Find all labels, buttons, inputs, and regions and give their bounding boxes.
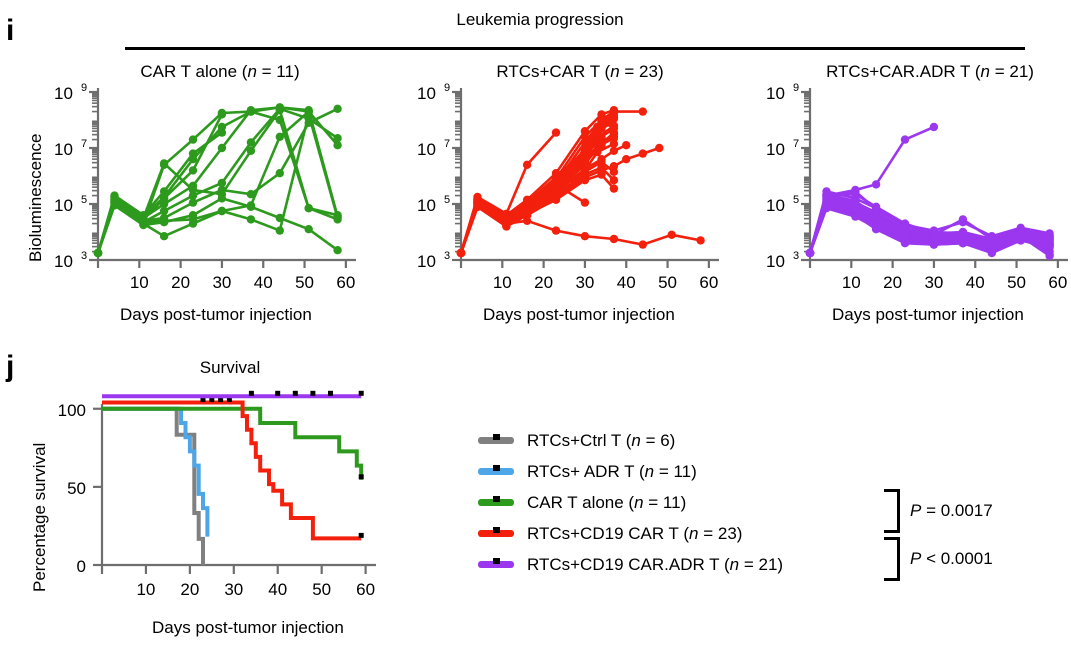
legend-item-green[interactable]: CAR T alone (n = 11) xyxy=(478,487,783,518)
svg-text:30: 30 xyxy=(924,273,943,292)
section-rule xyxy=(125,47,1025,50)
pvalue-row-1: P = 0.0017 xyxy=(884,487,993,535)
svg-text:9: 9 xyxy=(444,82,450,94)
svg-text:50: 50 xyxy=(1007,273,1026,292)
section-title-leukemia-progression: Leukemia progression xyxy=(380,10,700,30)
pvalue-text-2: P < 0.0001 xyxy=(910,549,993,569)
legend-label-blue: RTCs+ ADR T (n = 11) xyxy=(527,462,697,482)
svg-text:10: 10 xyxy=(766,196,785,215)
svg-text:20: 20 xyxy=(171,273,190,292)
legend-label-grey: RTCs+Ctrl T (n = 6) xyxy=(527,431,675,451)
svg-text:3: 3 xyxy=(793,250,799,262)
svg-text:7: 7 xyxy=(793,138,799,150)
svg-text:10: 10 xyxy=(417,196,436,215)
svg-text:10: 10 xyxy=(130,273,149,292)
svg-text:30: 30 xyxy=(212,273,231,292)
legend-item-purple[interactable]: RTCs+CD19 CAR.ADR T (n = 21) xyxy=(478,549,783,580)
svg-text:40: 40 xyxy=(617,273,636,292)
svg-text:10: 10 xyxy=(766,140,785,159)
svg-text:9: 9 xyxy=(81,82,87,94)
legend-item-red[interactable]: RTCs+CD19 CAR T (n = 23) xyxy=(478,518,783,549)
chart-survival: 102030405060050100 xyxy=(0,370,420,610)
svg-text:5: 5 xyxy=(793,194,799,206)
legend-item-blue[interactable]: RTCs+ ADR T (n = 11) xyxy=(478,456,783,487)
svg-text:50: 50 xyxy=(658,273,677,292)
legend-item-grey[interactable]: RTCs+Ctrl T (n = 6) xyxy=(478,425,783,456)
svg-text:10: 10 xyxy=(54,84,73,103)
panel-letter-i: i xyxy=(6,16,14,46)
legend-label-green: CAR T alone (n = 11) xyxy=(527,493,686,513)
svg-text:3: 3 xyxy=(444,250,450,262)
svg-text:7: 7 xyxy=(81,138,87,150)
legend-swatch-red xyxy=(478,530,514,537)
svg-text:7: 7 xyxy=(444,138,450,150)
svg-text:10: 10 xyxy=(493,273,512,292)
svg-text:3: 3 xyxy=(81,250,87,262)
survival-legend: RTCs+Ctrl T (n = 6)RTCs+ ADR T (n = 11)C… xyxy=(478,425,783,580)
svg-text:20: 20 xyxy=(883,273,902,292)
svg-text:10: 10 xyxy=(417,84,436,103)
svg-text:50: 50 xyxy=(67,479,86,498)
svg-text:10: 10 xyxy=(417,140,436,159)
chart-bioluminescence-rtcs-car-adr-t: 102030405060103105107109 xyxy=(712,70,1071,300)
pvalue-text-1: P = 0.0017 xyxy=(910,501,993,521)
svg-text:50: 50 xyxy=(312,580,331,599)
svg-text:10: 10 xyxy=(54,196,73,215)
svg-text:10: 10 xyxy=(417,252,436,271)
legend-swatch-blue xyxy=(478,468,514,475)
legend-swatch-purple xyxy=(478,561,514,568)
comparison-bracket-icon xyxy=(884,537,900,581)
svg-text:60: 60 xyxy=(336,273,355,292)
pvalue-annotations: P = 0.0017P < 0.0001 xyxy=(884,487,993,583)
svg-text:9: 9 xyxy=(793,82,799,94)
svg-text:20: 20 xyxy=(180,580,199,599)
legend-swatch-grey xyxy=(478,437,514,444)
comparison-bracket-icon xyxy=(884,489,900,533)
svg-text:10: 10 xyxy=(842,273,861,292)
legend-label-purple: RTCs+CD19 CAR.ADR T (n = 21) xyxy=(527,555,783,575)
svg-text:10: 10 xyxy=(136,580,155,599)
legend-swatch-green xyxy=(478,499,514,506)
chart-bioluminescence-car-t-alone: 102030405060103105107109 xyxy=(0,70,360,300)
svg-text:60: 60 xyxy=(1048,273,1067,292)
pvalue-row-2: P < 0.0001 xyxy=(884,535,993,583)
x-axis-label-p3: Days post-tumor injection xyxy=(832,305,1024,325)
svg-text:40: 40 xyxy=(268,580,287,599)
x-axis-label-p1: Days post-tumor injection xyxy=(120,305,312,325)
svg-text:100: 100 xyxy=(58,401,86,420)
svg-text:30: 30 xyxy=(575,273,594,292)
svg-text:30: 30 xyxy=(224,580,243,599)
svg-text:10: 10 xyxy=(766,84,785,103)
svg-text:5: 5 xyxy=(444,194,450,206)
svg-text:10: 10 xyxy=(54,140,73,159)
svg-text:60: 60 xyxy=(356,580,375,599)
legend-label-red: RTCs+CD19 CAR T (n = 23) xyxy=(527,524,742,544)
svg-text:10: 10 xyxy=(766,252,785,271)
x-axis-label-survival: Days post-tumor injection xyxy=(152,618,344,638)
svg-text:40: 40 xyxy=(966,273,985,292)
x-axis-label-p2: Days post-tumor injection xyxy=(483,305,675,325)
svg-text:40: 40 xyxy=(254,273,273,292)
svg-text:0: 0 xyxy=(77,557,86,576)
svg-text:10: 10 xyxy=(54,252,73,271)
svg-text:5: 5 xyxy=(81,194,87,206)
svg-text:50: 50 xyxy=(295,273,314,292)
svg-text:20: 20 xyxy=(534,273,553,292)
chart-bioluminescence-rtcs-car-t: 102030405060103105107109 xyxy=(363,70,723,300)
